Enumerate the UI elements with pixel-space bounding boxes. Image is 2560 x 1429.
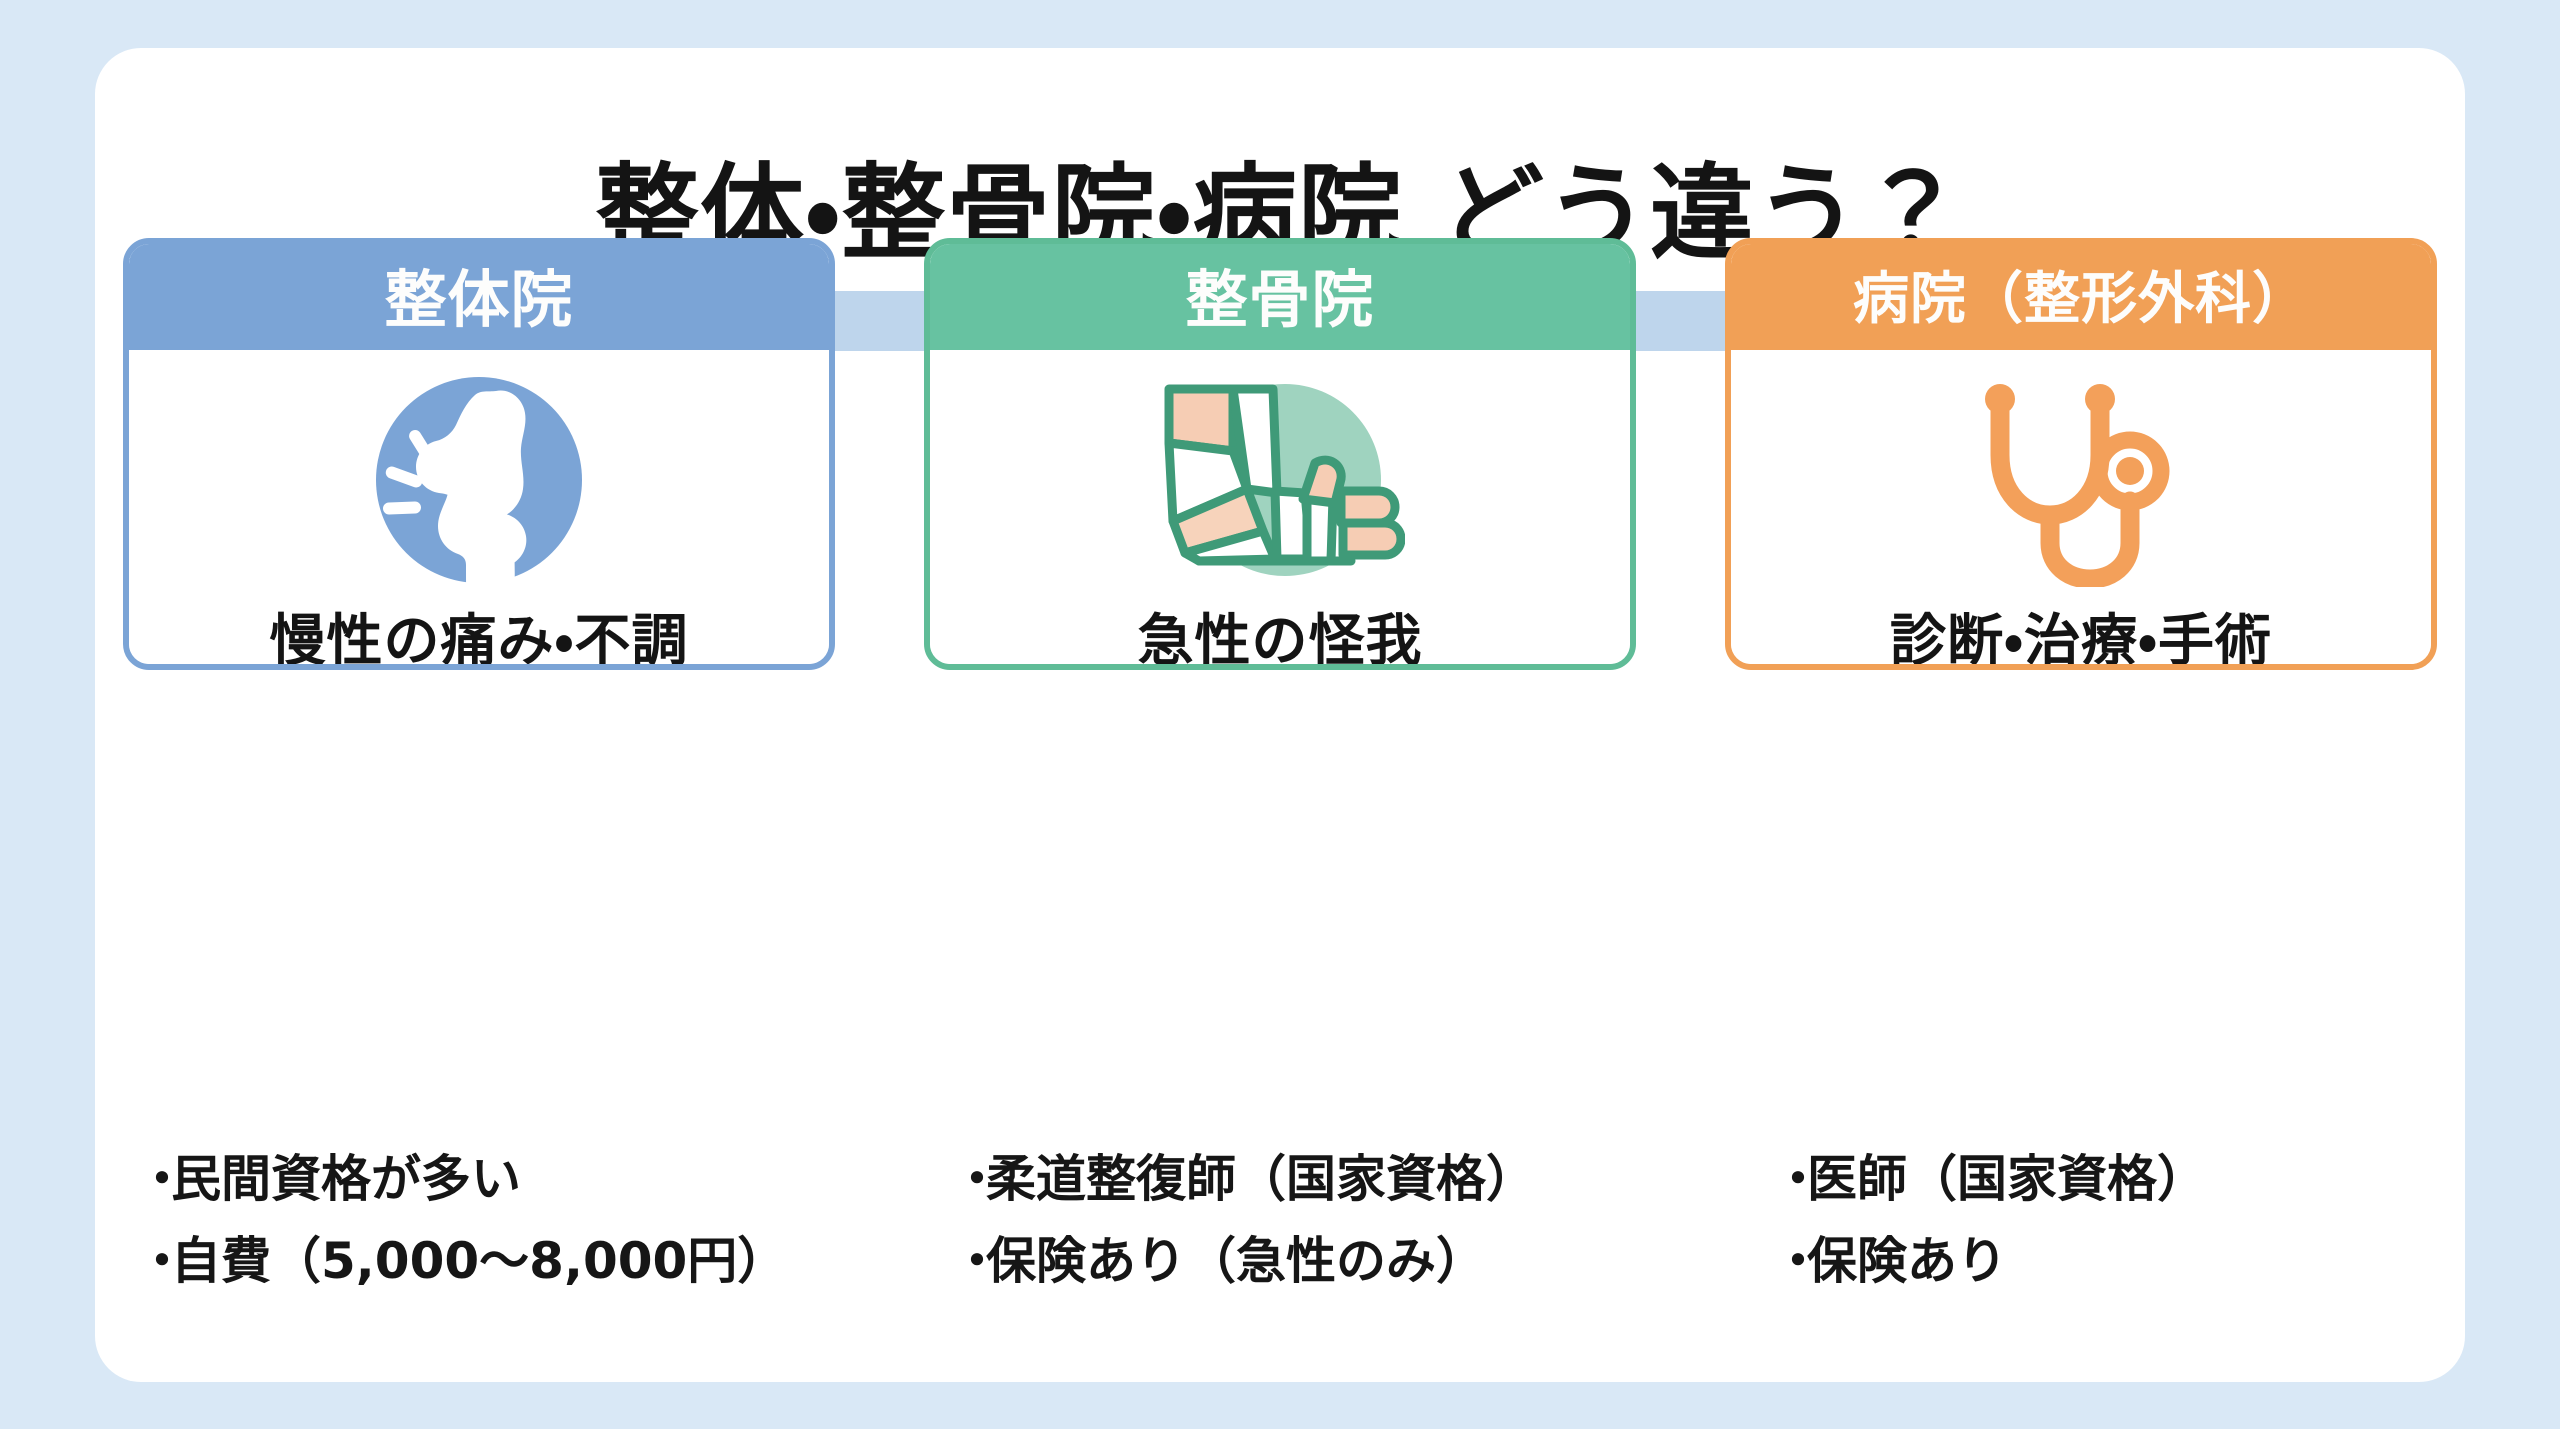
stethoscope-icon [1972,368,2190,592]
bullet-marker-icon: ・ [952,1220,986,1302]
comparison-card-row: 整体院 慢性の痛み・不調 [95,238,2465,708]
card-seikotsu-in[interactable]: 整骨院 [924,238,1636,670]
bullet-list-seikotsu-in: ・ 柔道整復師（国家資格） ・ 保険あり（急性のみ） [924,1138,1636,1302]
card-caption-seikotsu-in: 急性の怪我 [1138,596,1423,670]
card-body-byouin: 診断・治療・手術 [1731,350,2431,670]
bullet-marker-icon: ・ [137,1220,171,1302]
list-item: ・ 保険あり（急性のみ） [952,1220,1636,1302]
bullet-list-row: ・ 民間資格が多い ・ 自費（5,000〜8,000円） ・ 柔道整復師（国家資… [95,1138,2465,1302]
bullet-marker-icon: ・ [1773,1138,1807,1220]
card-body-seikotsu-in: 急性の怪我 [930,350,1630,670]
infographic-sheet: 整体・整骨院・病院 どう違う？ 整体院 [95,48,2465,1382]
list-item-label: 民間資格が多い [171,1138,521,1220]
list-item-label: 保険あり（急性のみ） [986,1220,1486,1302]
card-seitai-in[interactable]: 整体院 慢性の痛み・不調 [123,238,835,670]
list-item: ・ 保険あり [1773,1220,2437,1302]
list-item-label: 保険あり [1807,1220,2007,1302]
bullet-marker-icon: ・ [137,1138,171,1220]
list-item: ・ 医師（国家資格） [1773,1138,2437,1220]
card-caption-seitai-in: 慢性の痛み・不調 [269,596,688,670]
list-item-label: 自費（5,000〜8,000円） [171,1220,787,1302]
card-byouin[interactable]: 病院（整形外科） 診断・治療・手術 [1725,238,2437,670]
bullet-marker-icon: ・ [952,1138,986,1220]
card-caption-byouin: 診断・治療・手術 [1890,596,2272,670]
card-header-seikotsu-in: 整骨院 [924,238,1636,350]
list-item: ・ 民間資格が多い [137,1138,835,1220]
bullet-marker-icon: ・ [1773,1220,1807,1302]
knee-joint-pain-icon [372,368,586,592]
list-item-label: 柔道整復師（国家資格） [986,1138,1536,1220]
list-item: ・ 自費（5,000〜8,000円） [137,1220,835,1302]
card-header-byouin: 病院（整形外科） [1725,238,2437,350]
list-item-label: 医師（国家資格） [1807,1138,2207,1220]
bullet-list-byouin: ・ 医師（国家資格） ・ 保険あり [1725,1138,2437,1302]
list-item: ・ 柔道整復師（国家資格） [952,1138,1636,1220]
card-header-seitai-in: 整体院 [123,238,835,350]
card-body-seitai-in: 慢性の痛み・不調 [129,350,829,670]
bandaged-hand-icon [1155,368,1405,592]
bullet-list-seitai-in: ・ 民間資格が多い ・ 自費（5,000〜8,000円） [123,1138,835,1302]
